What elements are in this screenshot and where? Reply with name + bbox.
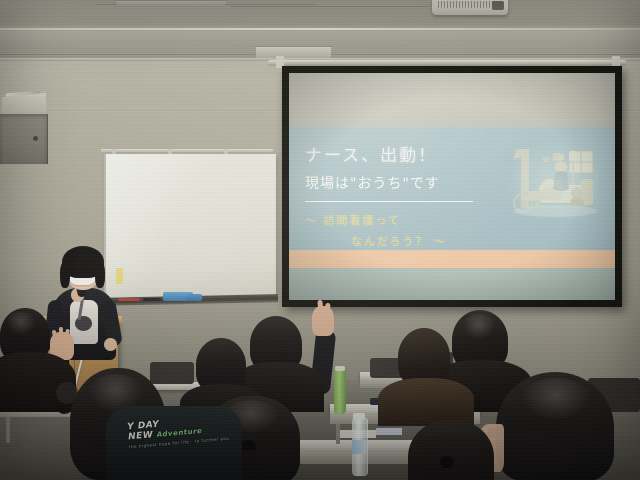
hair-highlight [6,312,36,336]
desk-item-notebook [376,428,402,435]
finger [59,327,63,342]
student-shoulders [378,378,474,426]
slide-top-band [289,73,615,127]
wall-cabinet [0,114,48,164]
student-head-foreground [408,420,494,480]
whiteboard-rail [101,149,273,153]
desk-leg [6,417,10,443]
screen-surface: ナース、出動！ 現場は"おうち"です ～ 訪問看護って なんだろう？ ～ [289,73,615,300]
hair-highlight [520,378,592,422]
projection-screen: ナース、出動！ 現場は"おうち"です ～ 訪問看護って なんだろう？ ～ [282,66,622,307]
illustration-glow [503,141,599,219]
ceiling-vent [115,0,227,7]
projector-lens [492,1,504,10]
bottle-label [352,440,366,454]
slide-accent-band [289,250,615,268]
hair-tie [440,456,454,468]
ceiling-seam [0,28,640,30]
whiteboard-sticky-note [116,268,123,284]
drink-bottle [334,370,346,414]
classroom-photo: ナース、出動！ 現場は"おうち"です ～ 訪問看護って なんだろう？ ～ [0,0,640,480]
home-nursing-illustration-icon [503,141,599,219]
bottle-cap [335,366,345,371]
cabinet-knob-icon [33,136,38,141]
chair-back [150,362,194,384]
presenter-hand-right [104,338,117,351]
ceiling-projector-icon [432,0,508,15]
whiteboard-glare [106,154,276,299]
bottle-cap [353,413,365,419]
slide-divider [305,201,473,202]
presenter-hair-side [95,262,105,288]
whiteboard-marker [118,298,140,301]
slide-question-line-2: なんだろう？ ～ [351,233,615,249]
hair-highlight [462,314,496,340]
slide-body: ナース、出動！ 現場は"おうち"です ～ 訪問看護って なんだろう？ ～ [289,127,615,250]
presentation-slide: ナース、出動！ 現場は"おうち"です ～ 訪問看護って なんだろう？ ～ [289,73,615,300]
slide-foot-band [289,268,615,300]
whiteboard-marker [143,298,161,301]
presenter-hair-side [60,262,70,288]
whiteboard-eraser [186,294,202,301]
ceiling-panel-line [230,6,430,7]
whiteboard [104,154,276,299]
